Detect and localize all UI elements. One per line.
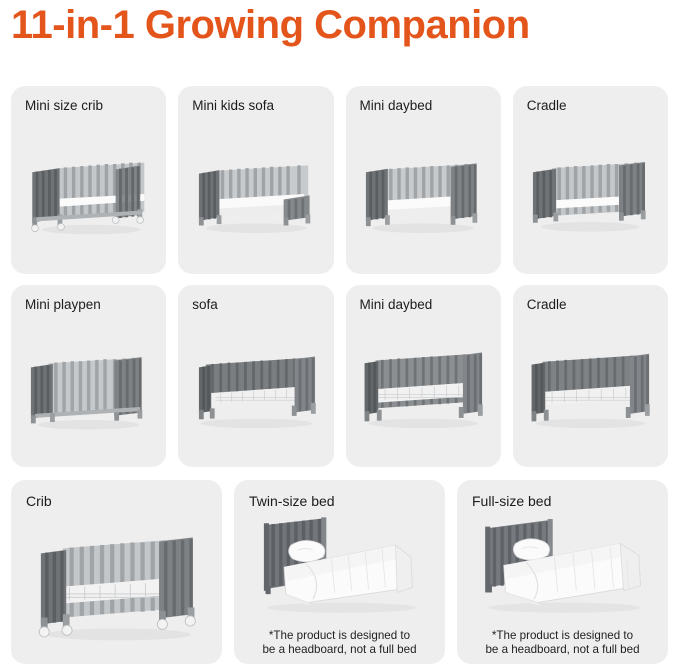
config-card-sofa[interactable]: sofa: [178, 285, 333, 467]
card-label: Crib: [26, 494, 52, 509]
config-card-twin-size-bed[interactable]: Twin-size bed: [234, 480, 445, 664]
twin-bed-disclaimer: *The product is designed to be a headboa…: [240, 629, 439, 657]
sofa-illustration: [178, 315, 333, 463]
disclaimer-line-1: *The product is designed to: [463, 629, 662, 643]
config-row-3: Crib: [0, 480, 679, 664]
card-label: Cradle: [527, 298, 567, 313]
mini-daybed-illustration: [346, 116, 501, 270]
product-feature-graphic: 11-in-1 Growing Companion Mini size crib: [0, 0, 679, 672]
mini-size-crib-illustration: [11, 116, 166, 270]
cradle-illustration: [513, 116, 668, 270]
config-card-mini-kids-sofa[interactable]: Mini kids sofa: [178, 86, 333, 274]
full-bed-disclaimer: *The product is designed to be a headboa…: [463, 629, 662, 657]
card-label: Mini daybed: [360, 99, 433, 114]
page-title: 11-in-1 Growing Companion: [11, 2, 530, 48]
config-row-2: Mini playpen: [0, 285, 679, 467]
mini-playpen-illustration: [11, 315, 166, 463]
configuration-grid: Mini size crib: [0, 86, 679, 664]
config-card-mini-playpen[interactable]: Mini playpen: [11, 285, 166, 467]
card-label: Mini playpen: [25, 298, 101, 313]
card-label: Cradle: [527, 99, 567, 114]
config-card-full-size-bed[interactable]: Full-size bed: [457, 480, 668, 664]
config-card-mini-daybed-1[interactable]: Mini daybed: [346, 86, 501, 274]
crib-illustration: [11, 510, 222, 660]
card-label: Twin-size bed: [249, 494, 335, 509]
mini-daybed-2-illustration: [346, 315, 501, 463]
card-label: Mini daybed: [360, 298, 433, 313]
disclaimer-line-2: be a headboard, not a full bed: [240, 643, 439, 657]
cradle-2-illustration: [513, 315, 668, 463]
config-card-cradle-2[interactable]: Cradle: [513, 285, 668, 467]
card-label: sofa: [192, 298, 218, 313]
config-card-mini-size-crib[interactable]: Mini size crib: [11, 86, 166, 274]
card-label: Mini kids sofa: [192, 99, 274, 114]
config-card-mini-daybed-2[interactable]: Mini daybed: [346, 285, 501, 467]
config-card-cradle-1[interactable]: Cradle: [513, 86, 668, 274]
config-row-1: Mini size crib: [0, 86, 679, 274]
twin-size-bed-illustration: [234, 506, 445, 624]
card-label: Full-size bed: [472, 494, 551, 509]
disclaimer-line-1: *The product is designed to: [240, 629, 439, 643]
card-label: Mini size crib: [25, 99, 103, 114]
config-card-crib[interactable]: Crib: [11, 480, 222, 664]
disclaimer-line-2: be a headboard, not a full bed: [463, 643, 662, 657]
full-size-bed-illustration: [457, 506, 668, 624]
mini-kids-sofa-illustration: [178, 116, 333, 270]
